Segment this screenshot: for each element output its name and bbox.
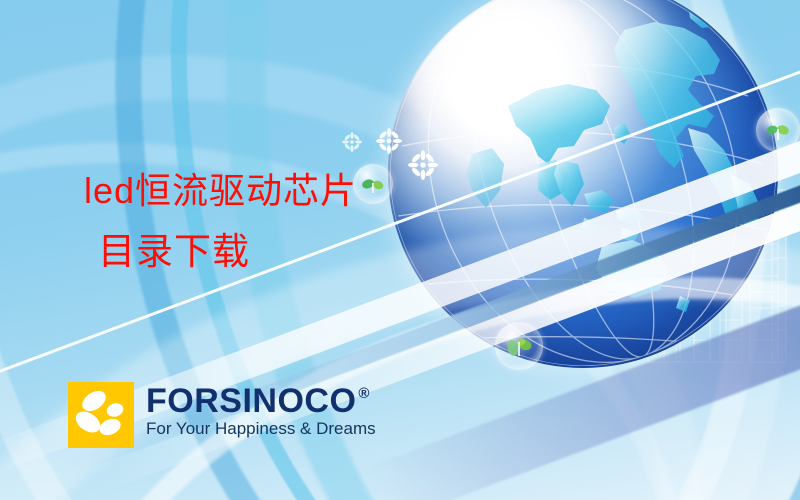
- logo-text-block: FORSINOCO ® For Your Happiness & Dreams: [146, 382, 376, 439]
- sprout-icon: [495, 322, 543, 370]
- bubble-sprout: [756, 108, 800, 152]
- company-logo: FORSINOCO ® For Your Happiness & Dreams: [68, 382, 376, 448]
- bubble-sprout: [495, 322, 543, 370]
- logo-company-name-text: FORSINOCO: [146, 384, 356, 418]
- logo-mark-icon: [68, 382, 134, 448]
- headline-block: led恒流驱动芯片 目录下载: [84, 160, 504, 284]
- headline-line-2: 目录下载: [98, 222, 504, 284]
- registered-trademark-icon: ®: [358, 386, 370, 401]
- promo-banner: led恒流驱动芯片 目录下载 FORSINOCO ® For Your Happ…: [0, 0, 800, 500]
- sparkle-flower-icon: [376, 128, 402, 154]
- logo-company-name: FORSINOCO ®: [146, 384, 376, 418]
- headline-line-1: led恒流驱动芯片: [84, 160, 504, 222]
- logo-tagline: For Your Happiness & Dreams: [146, 419, 376, 439]
- sprout-icon: [756, 108, 800, 152]
- sparkle-flower-icon: [342, 132, 362, 152]
- pinwheel-petals-icon: [68, 382, 134, 448]
